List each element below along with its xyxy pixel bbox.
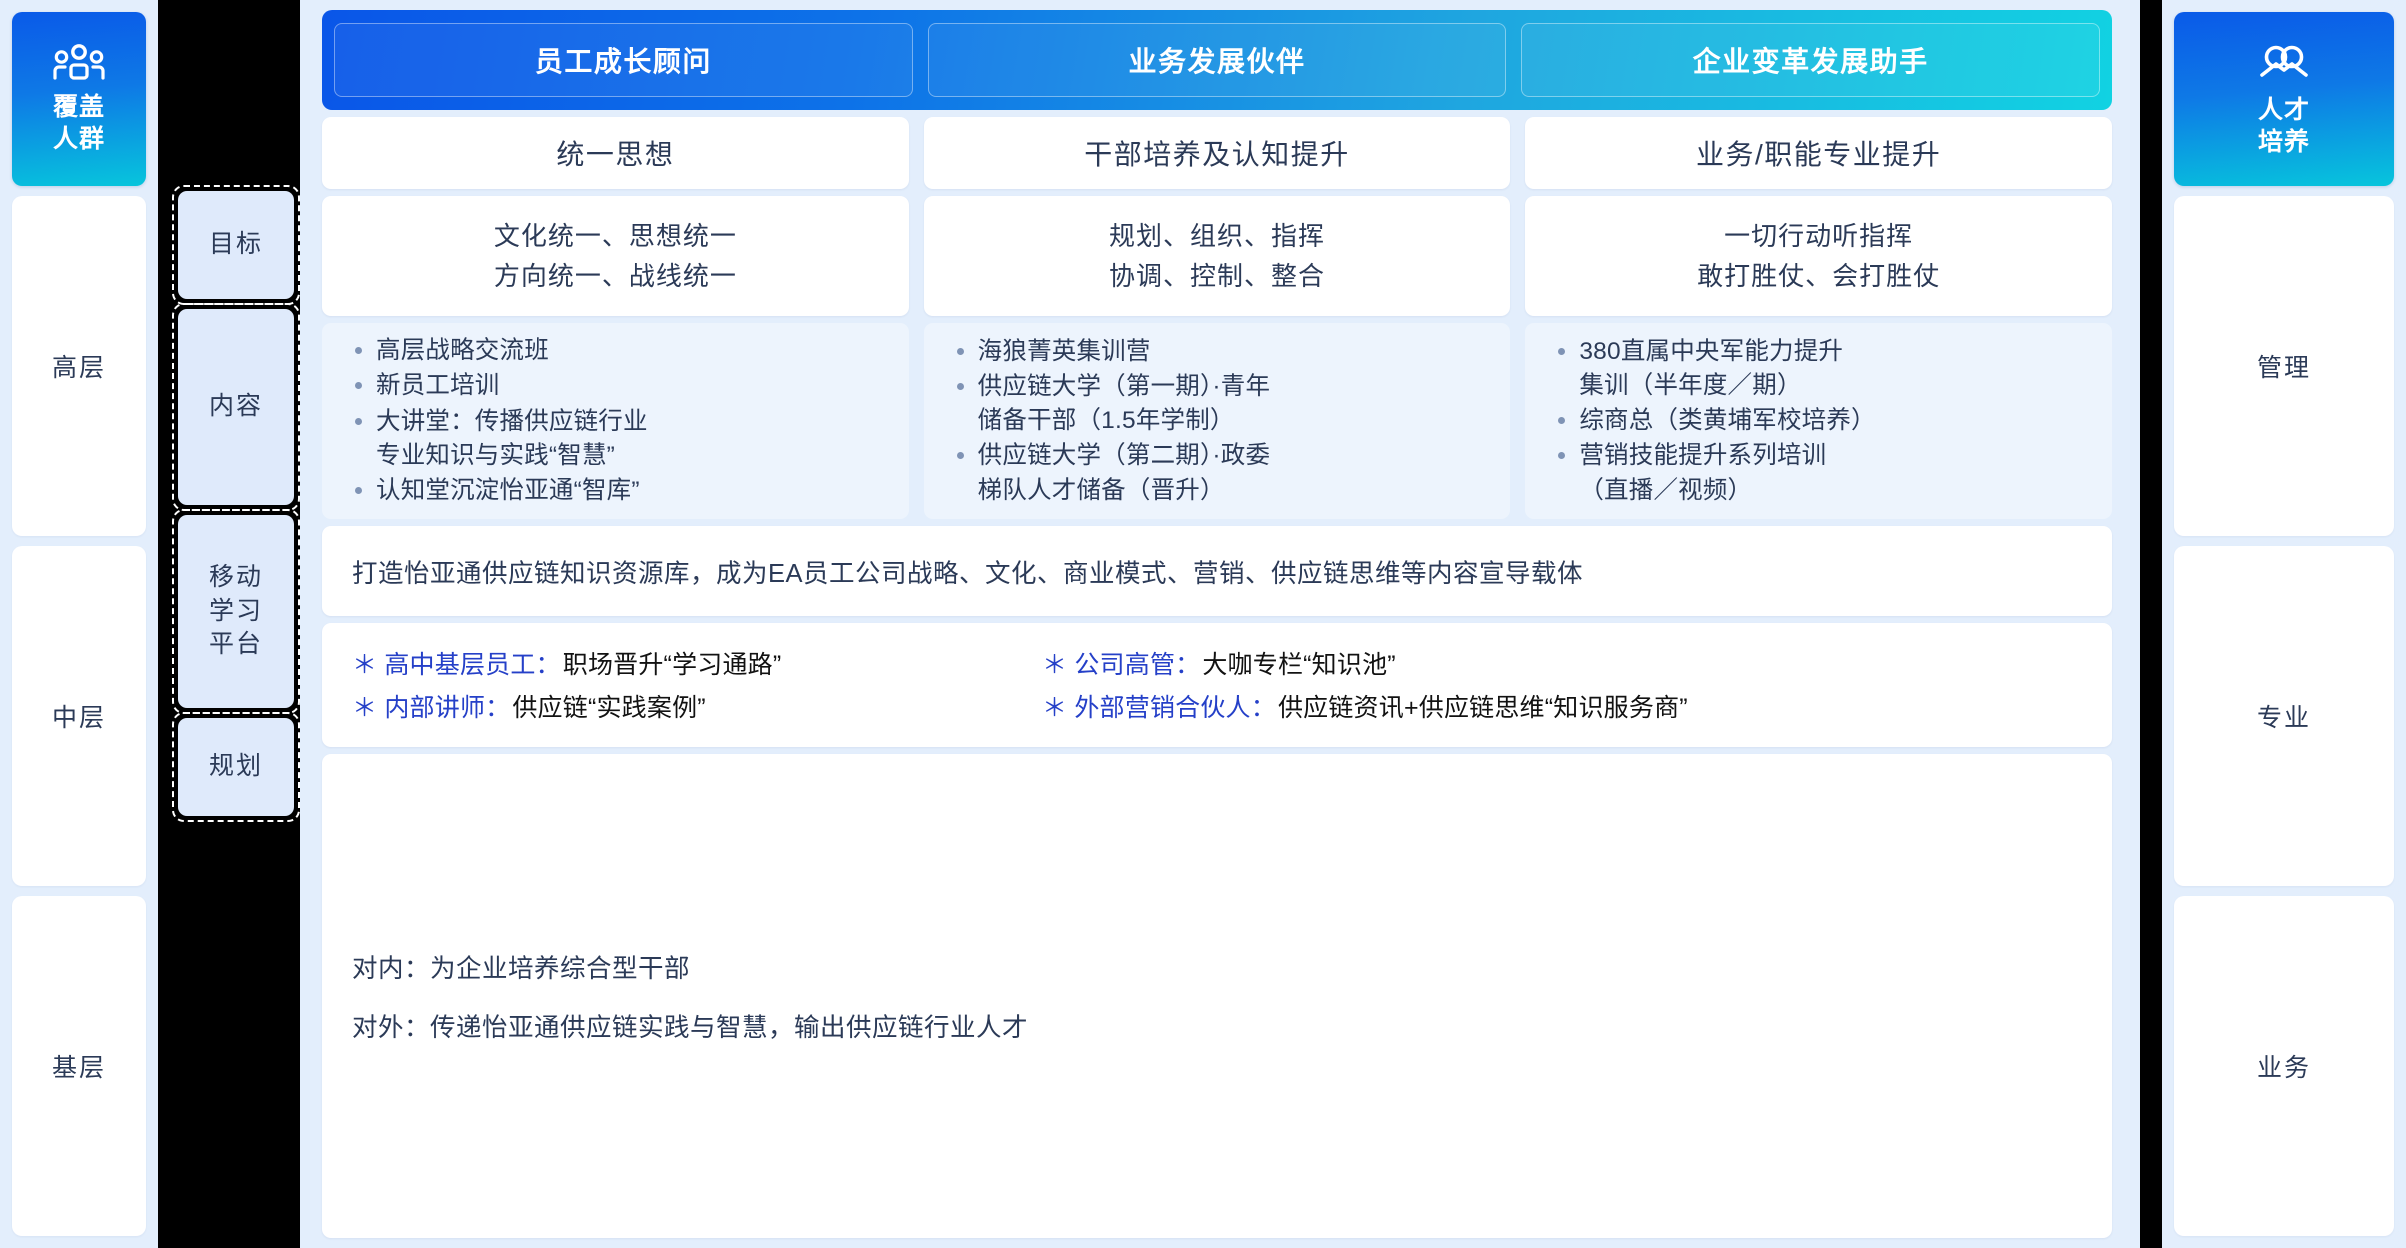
star-0-1-body: 大咖专栏“知识池” (1202, 653, 1395, 678)
dimension-item-content[interactable]: 内容 (172, 303, 300, 511)
role-tab-2-label: 企业变革发展助手 (1693, 40, 1929, 80)
subhead-row: 统一思想 干部培养及认知提升 业务/职能专业提升 (322, 117, 2112, 189)
role-header-bar: 员工成长顾问 业务发展伙伴 企业变革发展助手 (322, 10, 2112, 110)
star-segment-1-0: ＊ 内部讲师： 供应链“实践案例” (352, 696, 1042, 721)
resource-banner-card: 打造怡亚通供应链知识资源库，成为EA员工公司战略、文化、商业模式、营销、供应链思… (322, 526, 2112, 616)
audience-cell-middle-label: 中层 (52, 698, 106, 734)
content-card-2: 380直属中央军能力提升 集训（半年度／期） 综商总（类黄埔军校培养） 营销技能… (1525, 323, 2112, 519)
dimension-item-content-label: 内容 (178, 309, 294, 505)
audience-header-title: 覆盖 人群 (53, 91, 105, 155)
talent-cell-business[interactable]: 业务 (2174, 896, 2394, 1236)
plan-card: 对内：为企业培养综合型干部 对外：传递怡亚通供应链实践与智慧，输出供应链行业人才 (322, 754, 2112, 1238)
star-0-1-lead: ＊ 公司高管： (1042, 653, 1200, 678)
role-tab-0-label: 员工成长顾问 (535, 40, 712, 80)
talent-column: 人才 培养 管理 专业 业务 (2162, 0, 2406, 1248)
audience-column: 覆盖 人群 高层 中层 基层 (0, 0, 158, 1248)
role-tab-1-label: 业务发展伙伴 (1129, 40, 1306, 80)
star-1-0-lead: ＊ 内部讲师： (352, 696, 510, 721)
content-list-2: 380直属中央军能力提升 集训（半年度／期） 综商总（类黄埔军校培养） 营销技能… (1555, 334, 1875, 509)
goal-1-line1: 规划、组织、指挥 (1109, 216, 1325, 256)
goal-2-line1: 一切行动听指挥 (1697, 216, 1940, 256)
audience-header-title-line1: 覆盖 (53, 91, 105, 123)
content-card-1: 海狼菁英集训营 供应链大学（第一期）·青年 储备干部（1.5年学制） 供应链大学… (924, 323, 1511, 519)
list-item: 综商总（类黄埔军校培养） (1555, 404, 1875, 438)
right-black-band (2140, 0, 2162, 1248)
goal-0-line1: 文化统一、思想统一 (494, 216, 737, 256)
talent-header-title-line1: 人才 (2258, 94, 2310, 126)
subhead-card-0[interactable]: 统一思想 (322, 117, 909, 189)
star-1-0-body: 供应链“实践案例” (512, 696, 705, 721)
star-line-1: ＊ 内部讲师： 供应链“实践案例” ＊ 外部营销合伙人： 供应链资讯+供应链思维… (352, 696, 2082, 721)
talent-cell-business-label: 业务 (2257, 1048, 2311, 1084)
star-1-1-body: 供应链资讯+供应链思维“知识服务商” (1278, 696, 1688, 721)
goal-2-line2: 敢打胜仗、会打胜仗 (1697, 256, 1940, 296)
dimension-item-plan[interactable]: 规划 (172, 712, 300, 822)
star-line-0: ＊ 高中基层员工： 职场晋升“学习通路” ＊ 公司高管： 大咖专栏“知识池” (352, 653, 2082, 678)
dimension-item-mobile-platform-label: 移动 学习 平台 (178, 515, 294, 708)
star-segment-0-1: ＊ 公司高管： 大咖专栏“知识池” (1042, 653, 1396, 678)
content-card-0: 高层战略交流班 新员工培训 大讲堂：传播供应链行业 专业知识与实践“智慧” 认知… (322, 323, 909, 519)
content-2-item-0-cont: 集训（半年度／期） (1579, 369, 1875, 403)
audience-cell-middle[interactable]: 中层 (12, 546, 146, 886)
role-tab-business-development-partner[interactable]: 业务发展伙伴 (928, 23, 1507, 97)
content-1-item-1-cont: 储备干部（1.5年学制） (978, 404, 1271, 438)
plan-line-internal: 对内：为企业培养综合型干部 (352, 948, 2082, 985)
star-1-1-lead: ＊ 外部营销合伙人： (1042, 696, 1276, 721)
audience-cell-base-label: 基层 (52, 1048, 106, 1084)
goal-0-line2: 方向统一、战线统一 (494, 256, 737, 296)
content-2-item-0-text: 380直属中央军能力提升 (1579, 338, 1843, 365)
dimension-item-goal[interactable]: 目标 (172, 185, 300, 305)
star-segment-0-0: ＊ 高中基层员工： 职场晋升“学习通路” (352, 653, 1042, 678)
resource-banner-row: 打造怡亚通供应链知识资源库，成为EA员工公司战略、文化、商业模式、营销、供应链思… (322, 526, 2112, 616)
subhead-card-1[interactable]: 干部培养及认知提升 (924, 117, 1511, 189)
content-2-item-2-text: 营销技能提升系列培训 (1579, 442, 1826, 469)
talent-header-title: 人才 培养 (2258, 94, 2310, 158)
content-list-0: 高层战略交流班 新员工培训 大讲堂：传播供应链行业 专业知识与实践“智慧” 认知… (352, 333, 648, 509)
two-people-icon (2257, 41, 2311, 86)
dimension-item-goal-label: 目标 (178, 191, 294, 299)
list-item: 供应链大学（第二期）·政委 梯队人才储备（晋升） (954, 439, 1271, 508)
dimension-item-plan-label: 规划 (178, 718, 294, 816)
goal-card-1: 规划、组织、指挥 协调、控制、整合 (924, 196, 1511, 316)
plan-line-external: 对外：传递怡亚通供应链实践与智慧，输出供应链行业人才 (352, 1007, 2082, 1044)
audience-header-title-line2: 人群 (53, 123, 105, 155)
list-item: 新员工培训 (352, 369, 648, 403)
list-item: 大讲堂：传播供应链行业 专业知识与实践“智慧” (352, 405, 648, 474)
content-1-item-1-text: 供应链大学（第一期）·青年 (978, 373, 1271, 400)
star-0-0-lead: ＊ 高中基层员工： (352, 653, 561, 678)
dimension-column: 目标 内容 移动 学习 平台 规划 (172, 185, 300, 1233)
list-item: 供应链大学（第一期）·青年 储备干部（1.5年学制） (954, 370, 1271, 439)
content-row: 高层战略交流班 新员工培训 大讲堂：传播供应链行业 专业知识与实践“智慧” 认知… (322, 323, 2112, 519)
audience-cell-senior-label: 高层 (52, 348, 106, 384)
list-item: 营销技能提升系列培训 （直播／视频） (1555, 439, 1875, 508)
content-2-item-1-text: 综商总（类黄埔军校培养） (1579, 407, 1875, 434)
goal-1-line2: 协调、控制、整合 (1109, 256, 1325, 296)
main-panel: 员工成长顾问 业务发展伙伴 企业变革发展助手 统一思想 干部培养及认知提升 业务… (300, 0, 2140, 1248)
resource-banner-text: 打造怡亚通供应链知识资源库，成为EA员工公司战略、文化、商业模式、营销、供应链思… (352, 553, 1583, 590)
list-item: 380直属中央军能力提升 集训（半年度／期） (1555, 335, 1875, 404)
dimension-mobile-line3: 平台 (209, 628, 263, 662)
content-0-item-1-text: 新员工培训 (376, 372, 500, 399)
content-0-item-2-cont: 专业知识与实践“智慧” (376, 439, 648, 473)
people-group-icon (52, 43, 106, 83)
plan-row: 对内：为企业培养综合型干部 对外：传递怡亚通供应链实践与智慧，输出供应链行业人才 (322, 754, 2112, 1238)
list-item: 认知堂沉淀怡亚通“智库” (352, 474, 648, 508)
talent-header-title-line2: 培养 (2258, 126, 2310, 158)
content-0-item-0-text: 高层战略交流班 (376, 337, 549, 364)
talent-cell-management[interactable]: 管理 (2174, 196, 2394, 536)
subhead-card-2[interactable]: 业务/职能专业提升 (1525, 117, 2112, 189)
content-list-1: 海狼菁英集训营 供应链大学（第一期）·青年 储备干部（1.5年学制） 供应链大学… (954, 334, 1271, 509)
content-2-item-2-cont: （直播／视频） (1579, 474, 1875, 508)
content-1-item-2-text: 供应链大学（第二期）·政委 (978, 442, 1271, 469)
content-1-item-0-text: 海狼菁英集训营 (978, 338, 1151, 365)
subhead-1-label: 干部培养及认知提升 (1084, 133, 1350, 173)
star-0-0-body: 职场晋升“学习通路” (563, 653, 782, 678)
audience-header-card: 覆盖 人群 (12, 12, 146, 186)
list-item: 高层战略交流班 (352, 334, 648, 368)
dimension-mobile-line2: 学习 (209, 595, 263, 629)
content-0-item-3-text: 认知堂沉淀怡亚通“智库” (376, 477, 640, 504)
star-list-card: ＊ 高中基层员工： 职场晋升“学习通路” ＊ 公司高管： 大咖专栏“知识池” ＊… (322, 623, 2112, 747)
goal-card-2: 一切行动听指挥 敢打胜仗、会打胜仗 (1525, 196, 2112, 316)
left-black-band: 目标 内容 移动 学习 平台 规划 (158, 0, 300, 1248)
talent-cell-management-label: 管理 (2257, 348, 2311, 384)
goal-card-0: 文化统一、思想统一 方向统一、战线统一 (322, 196, 909, 316)
subhead-0-label: 统一思想 (556, 133, 674, 173)
role-tab-employee-growth-advisor[interactable]: 员工成长顾问 (334, 23, 913, 97)
dimension-item-mobile-platform[interactable]: 移动 学习 平台 (172, 509, 300, 714)
star-list-row: ＊ 高中基层员工： 职场晋升“学习通路” ＊ 公司高管： 大咖专栏“知识池” ＊… (322, 623, 2112, 747)
content-0-item-2-text: 大讲堂：传播供应链行业 (376, 408, 648, 435)
list-item: 海狼菁英集训营 (954, 335, 1271, 369)
talent-cell-professional-label: 专业 (2257, 698, 2311, 734)
talent-header-card: 人才 培养 (2174, 12, 2394, 186)
role-tab-enterprise-change-assistant[interactable]: 企业变革发展助手 (1521, 23, 2100, 97)
audience-cell-senior[interactable]: 高层 (12, 196, 146, 536)
talent-cell-professional[interactable]: 专业 (2174, 546, 2394, 886)
audience-cell-base[interactable]: 基层 (12, 896, 146, 1236)
diagram-root: 覆盖 人群 高层 中层 基层 目标 内容 移动 (0, 0, 2406, 1248)
star-segment-1-1: ＊ 外部营销合伙人： 供应链资讯+供应链思维“知识服务商” (1042, 696, 1688, 721)
goal-row: 文化统一、思想统一 方向统一、战线统一 规划、组织、指挥 协调、控制、整合 一切… (322, 196, 2112, 316)
content-1-item-2-cont: 梯队人才储备（晋升） (978, 474, 1271, 508)
subhead-2-label: 业务/职能专业提升 (1696, 133, 1941, 173)
dimension-mobile-line1: 移动 (209, 561, 263, 595)
